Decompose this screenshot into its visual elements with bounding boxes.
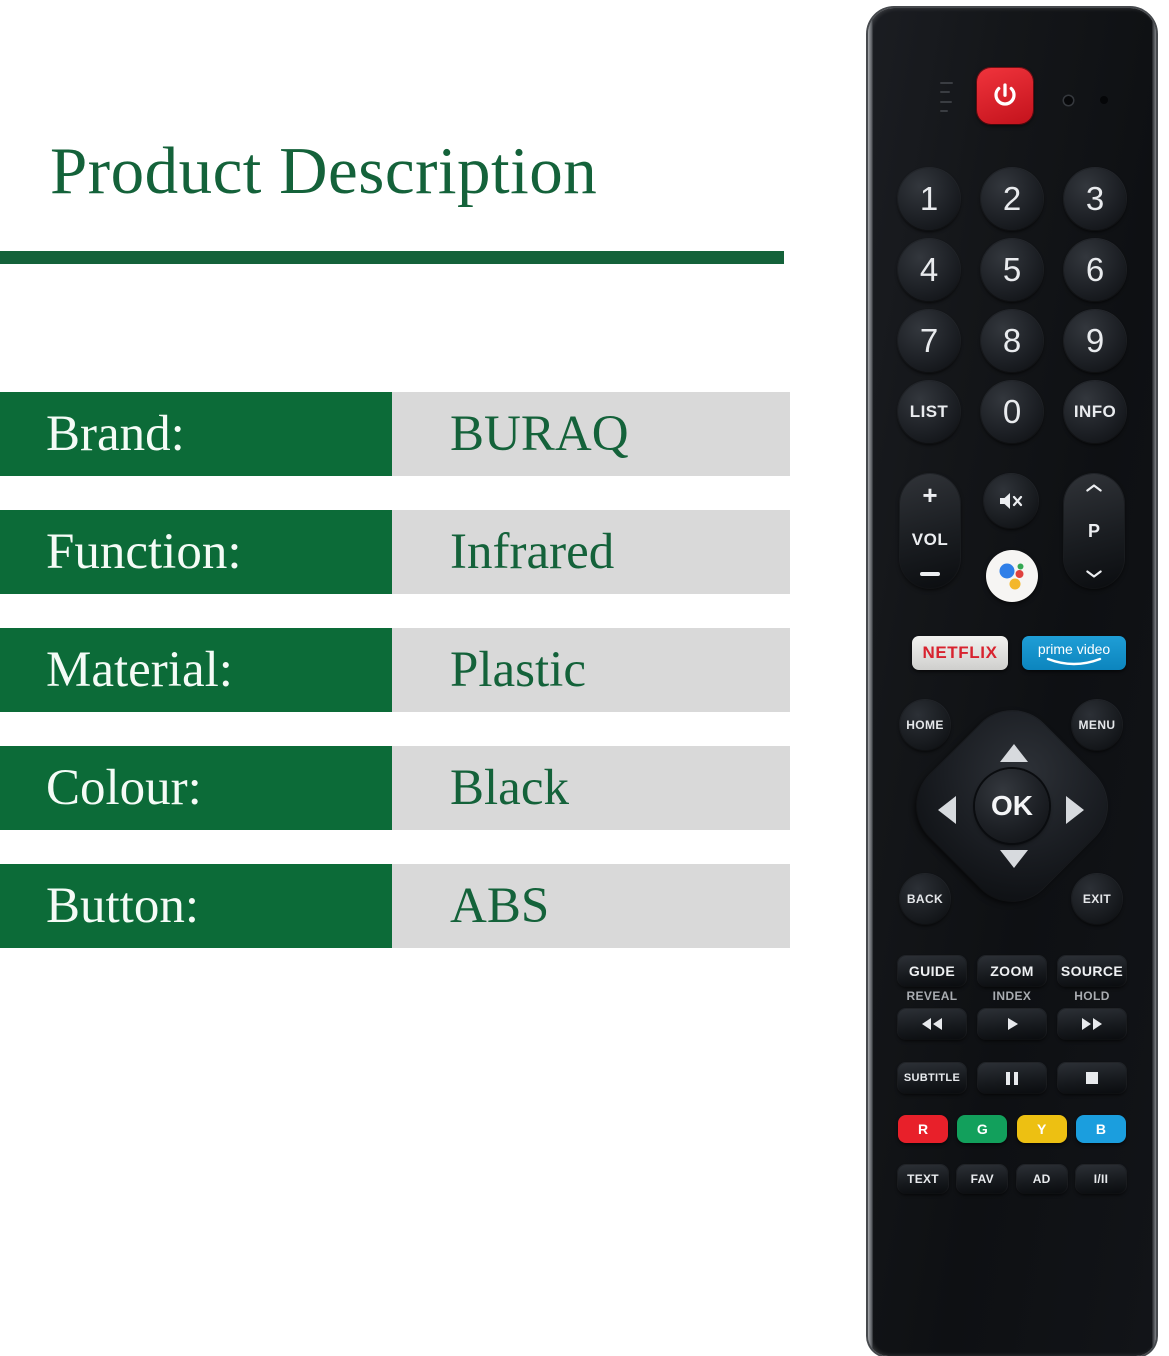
table-row: Button: ABS: [0, 864, 790, 948]
num-key-1[interactable]: 1: [898, 168, 960, 230]
bottom-button-row: TEXT FAV AD I/II: [898, 1165, 1126, 1193]
color-button-red[interactable]: R: [898, 1115, 948, 1143]
fast-forward-button[interactable]: [1058, 1009, 1126, 1039]
subtitle-label: SUBTITLE: [904, 1072, 960, 1084]
arrow-right-icon[interactable]: [1066, 796, 1084, 824]
power-button[interactable]: [977, 68, 1033, 124]
volume-label: VOL: [912, 530, 948, 550]
description-panel: Product Description Brand: BURAQ Functio…: [0, 0, 800, 1356]
audio-mode-button[interactable]: I/II: [1076, 1165, 1126, 1193]
channel-rocker[interactable]: P: [1064, 474, 1124, 588]
reveal-label: REVEAL: [898, 989, 966, 1003]
source-button[interactable]: SOURCE: [1058, 956, 1126, 986]
arrow-up-icon[interactable]: [1000, 744, 1028, 762]
num-key-5[interactable]: 5: [981, 239, 1043, 301]
led-indicator-icon: [1064, 96, 1073, 105]
arrow-left-icon[interactable]: [938, 796, 956, 824]
dpad: OK: [914, 726, 1110, 902]
spec-value-brand: BURAQ: [392, 392, 790, 476]
pause-button[interactable]: [978, 1063, 1046, 1093]
table-row: Brand: BURAQ: [0, 392, 790, 476]
volume-up-label: +: [922, 484, 937, 507]
spec-value-button: ABS: [392, 864, 790, 948]
rewind-button[interactable]: [898, 1009, 966, 1039]
prime-video-label: prime video: [1038, 642, 1110, 656]
zoom-button[interactable]: ZOOM: [978, 956, 1046, 986]
fav-button[interactable]: FAV: [957, 1165, 1007, 1193]
remote-control-image: 1 2 3 4 5 6 7 8 9 LIST 0 INFO + VOL: [868, 8, 1156, 1356]
spec-table: Brand: BURAQ Function: Infrared Material…: [0, 392, 790, 948]
volume-down-icon: [920, 572, 940, 576]
subtitle-row: SUBTITLE: [898, 1063, 1126, 1093]
netflix-button[interactable]: NETFLIX: [912, 636, 1008, 670]
color-button-green[interactable]: G: [957, 1115, 1007, 1143]
remote-left-edge: [868, 12, 873, 1352]
index-label: INDEX: [978, 989, 1046, 1003]
chevron-up-icon: [1085, 483, 1103, 493]
num-key-4[interactable]: 4: [898, 239, 960, 301]
numpad-row: LIST 0 INFO: [898, 381, 1126, 443]
spec-label-brand: Brand:: [0, 392, 392, 476]
product-description-page: Product Description Brand: BURAQ Functio…: [0, 0, 1169, 1356]
subtitle-button[interactable]: SUBTITLE: [898, 1063, 966, 1093]
prime-smile-icon: [1045, 657, 1103, 667]
text-button[interactable]: TEXT: [898, 1165, 948, 1193]
info-button[interactable]: INFO: [1064, 381, 1126, 443]
remote-right-edge: [1152, 12, 1156, 1352]
ad-button[interactable]: AD: [1017, 1165, 1067, 1193]
chevron-down-icon: [1085, 569, 1103, 579]
num-key-7[interactable]: 7: [898, 310, 960, 372]
spec-label-function: Function:: [0, 510, 392, 594]
num-key-6[interactable]: 6: [1064, 239, 1126, 301]
mute-button[interactable]: [984, 474, 1038, 528]
volume-rocker[interactable]: + VOL: [900, 474, 960, 588]
num-key-8[interactable]: 8: [981, 310, 1043, 372]
prime-video-button[interactable]: prime video: [1022, 636, 1126, 670]
spec-label-material: Material:: [0, 628, 392, 712]
numpad-row: 4 5 6: [898, 239, 1126, 301]
vent-tickmarks: [940, 82, 954, 112]
function-row: GUIDE ZOOM SOURCE: [898, 956, 1126, 986]
color-button-row: R G Y B: [898, 1115, 1126, 1143]
spec-label-button: Button:: [0, 864, 392, 948]
spec-label-colour: Colour:: [0, 746, 392, 830]
num-key-2[interactable]: 2: [981, 168, 1043, 230]
transport-row: [898, 1009, 1126, 1039]
title-underline: [0, 251, 784, 264]
hold-label: HOLD: [1058, 989, 1126, 1003]
power-icon: [990, 81, 1020, 111]
fast-forward-icon: [1079, 1017, 1105, 1031]
table-row: Colour: Black: [0, 746, 790, 830]
number-pad: 1 2 3 4 5 6 7 8 9 LIST 0 INFO: [898, 168, 1126, 452]
pause-icon: [1006, 1072, 1018, 1085]
rewind-icon: [919, 1017, 945, 1031]
table-row: Material: Plastic: [0, 628, 790, 712]
stop-icon: [1086, 1072, 1098, 1084]
spec-value-material: Plastic: [392, 628, 790, 712]
play-icon: [1004, 1016, 1020, 1032]
list-button[interactable]: LIST: [898, 381, 960, 443]
ok-button[interactable]: OK: [975, 769, 1049, 843]
stop-button[interactable]: [1058, 1063, 1126, 1093]
page-title: Product Description: [50, 138, 597, 205]
table-row: Function: Infrared: [0, 510, 790, 594]
numpad-row: 1 2 3: [898, 168, 1126, 230]
google-assistant-button[interactable]: [986, 550, 1038, 602]
secondary-label-row: REVEAL INDEX HOLD: [898, 989, 1126, 1003]
guide-button[interactable]: GUIDE: [898, 956, 966, 986]
color-button-blue[interactable]: B: [1076, 1115, 1126, 1143]
channel-label: P: [1088, 521, 1100, 542]
numpad-row: 7 8 9: [898, 310, 1126, 372]
color-button-yellow[interactable]: Y: [1017, 1115, 1067, 1143]
num-key-0[interactable]: 0: [981, 381, 1043, 443]
ir-sensor-icon: [1100, 96, 1108, 104]
spec-value-colour: Black: [392, 746, 790, 830]
spec-value-function: Infrared: [392, 510, 790, 594]
num-key-9[interactable]: 9: [1064, 310, 1126, 372]
arrow-down-icon[interactable]: [1000, 850, 1028, 868]
lower-controls: GUIDE ZOOM SOURCE REVEAL INDEX HOLD: [898, 956, 1126, 1193]
google-assistant-icon: [993, 557, 1031, 595]
play-button[interactable]: [978, 1009, 1046, 1039]
mute-icon: [997, 489, 1025, 513]
num-key-3[interactable]: 3: [1064, 168, 1126, 230]
